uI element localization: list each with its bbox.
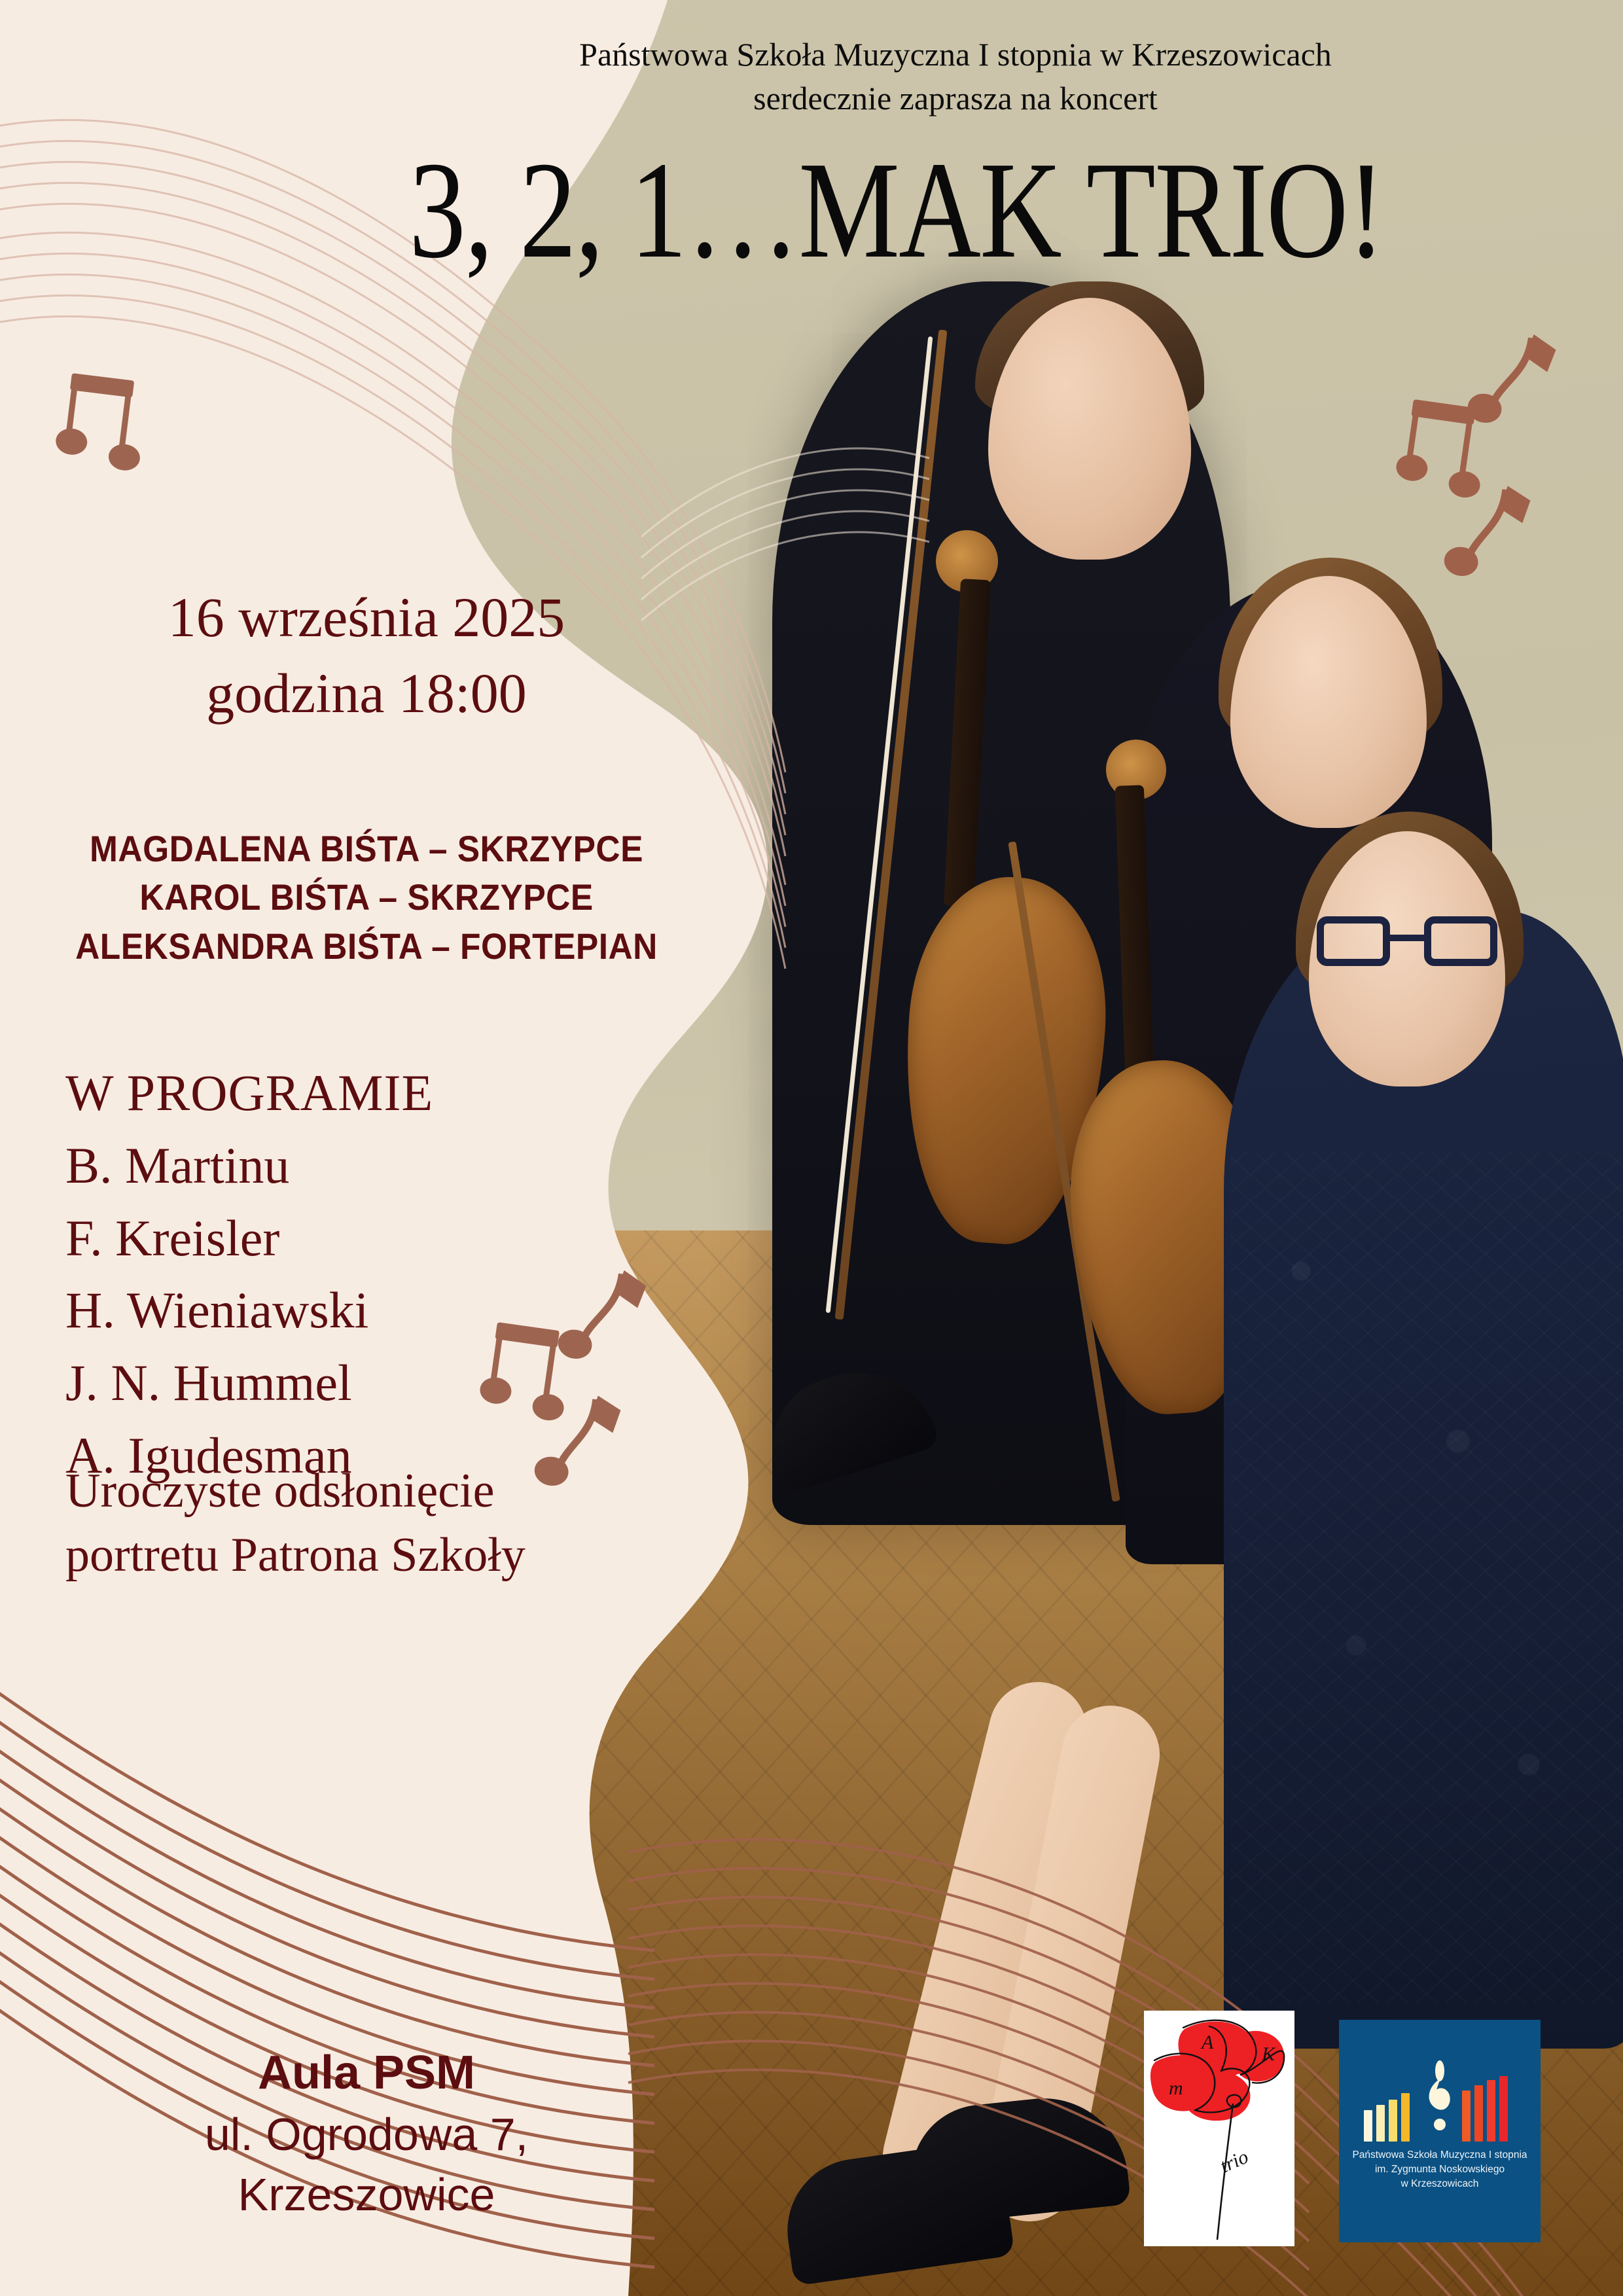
bar-right-3 [1487,2080,1495,2142]
lace-dress-pattern [1230,1152,1623,2003]
letter-k: K [1261,2043,1276,2065]
bar-left-1 [1364,2110,1372,2142]
invitation-line-1: Państwowa Szkoła Muzyczna I stopnia w Kr… [406,33,1505,77]
bar-right-1 [1462,2090,1471,2142]
performer-item: ALEKSANDRA BIŚTA – FORTEPIAN [41,922,692,971]
program-heading: W PROGRAMIE [65,1057,628,1130]
bar-left-2 [1376,2105,1385,2142]
bar-left-3 [1389,2100,1397,2142]
mak-trio-logo: A K m trio [1144,2011,1294,2246]
portrait-unveiling-note: Uroczyste odsłonięcie portretu Patrona S… [65,1460,654,1587]
school-logo: Państwowa Szkoła Muzyczna I stopnia im. … [1339,2020,1541,2242]
school-logo-text: Państwowa Szkoła Muzyczna I stopnia im. … [1339,2148,1541,2191]
treble-clef-icon [1420,2060,1459,2139]
program-item: H. Wieniawski [65,1274,628,1347]
bar-left-4 [1401,2093,1410,2142]
event-date: 16 września 2025 [79,579,654,655]
invitation-line-2: serdecznie zaprasza na koncert [406,77,1505,120]
venue-city: Krzeszowice [118,2164,615,2225]
letter-m: m [1169,2077,1183,2099]
poster-title: 3, 2, 1…MAK TRIO! [344,141,1449,279]
eyeglasses [1317,916,1497,966]
school-name-line-3: w Krzeszowicach [1346,2177,1534,2191]
event-time: godzina 18:00 [79,655,654,731]
unveiling-line-2: portretu Patrona Szkoły [65,1524,654,1588]
performers-list: MAGDALENA BIŚTA – SKRZYPCE KAROL BIŚTA –… [41,825,692,971]
program-section: W PROGRAMIE B. Martinu F. Kreisler H. Wi… [65,1057,628,1492]
poppy-flower-icon: A K m trio [1144,2011,1294,2246]
venue-block: Aula PSM ul. Ogrodowa 7, Krzeszowice [118,2042,615,2225]
invitation-header: Państwowa Szkoła Muzyczna I stopnia w Kr… [406,33,1505,120]
venue-name: Aula PSM [118,2042,615,2104]
venue-street: ul. Ogrodowa 7, [118,2104,615,2164]
school-name-line-1: Państwowa Szkoła Muzyczna I stopnia [1346,2148,1534,2162]
concert-poster: Państwowa Szkoła Muzyczna I stopnia w Kr… [0,0,1623,2296]
logo-word-trio: trio [1217,2146,1251,2178]
bar-right-4 [1499,2076,1508,2142]
unveiling-line-1: Uroczyste odsłonięcie [65,1460,654,1524]
performer-item: KAROL BIŚTA – SKRZYPCE [41,873,692,922]
program-item: B. Martinu [65,1130,628,1202]
event-datetime: 16 września 2025 godzina 18:00 [79,579,654,731]
equalizer-bars [1339,2076,1541,2142]
letter-a: A [1200,2032,1214,2053]
performer-item: MAGDALENA BIŚTA – SKRZYPCE [41,825,692,873]
school-name-line-2: im. Zygmunta Noskowskiego [1346,2162,1534,2177]
program-item: F. Kreisler [65,1202,628,1275]
program-item: J. N. Hummel [65,1347,628,1420]
bar-right-2 [1474,2085,1483,2142]
